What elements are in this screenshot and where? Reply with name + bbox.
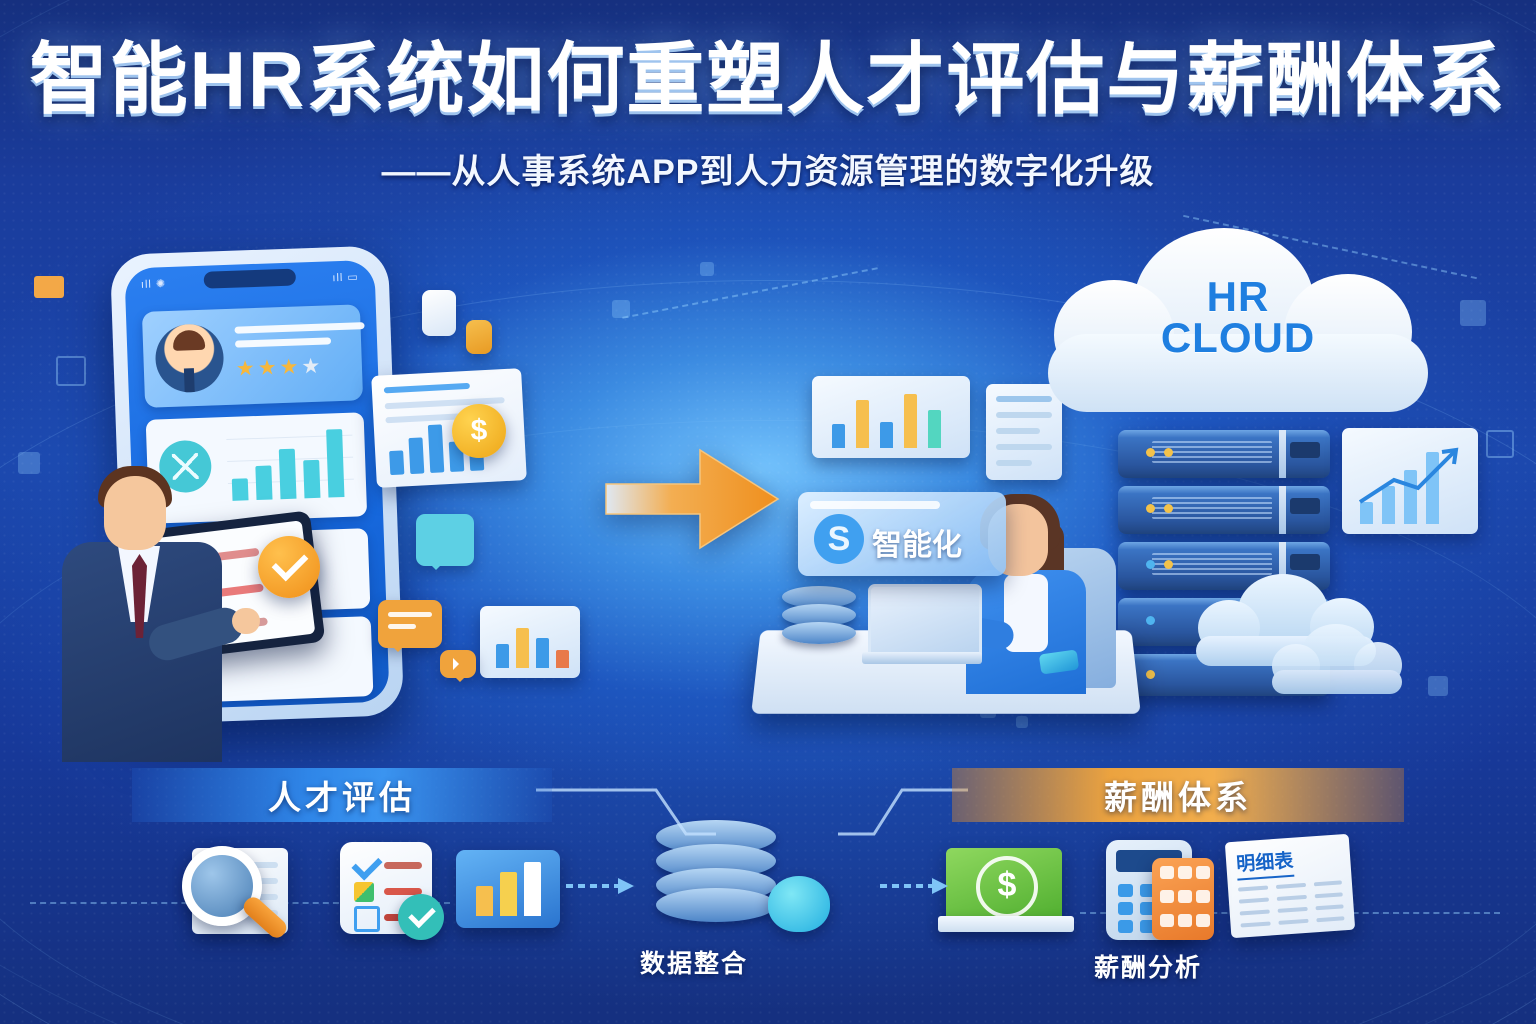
- doc-line: [996, 444, 1052, 450]
- banner-connector-left: [536, 782, 716, 840]
- doc-line: [1240, 909, 1270, 915]
- floating-chip: [466, 320, 492, 354]
- cloud-label: HR CLOUD: [1048, 276, 1428, 358]
- doc-line: [1278, 919, 1308, 925]
- rating-stars[interactable]: ★★★★: [236, 354, 324, 382]
- money-tray: [938, 916, 1074, 932]
- section-banner-talent-label: 人才评估: [268, 771, 416, 819]
- db-disc: [782, 622, 856, 644]
- server-led: [1146, 560, 1155, 569]
- status-chip-icon: [354, 882, 374, 902]
- chart-bar: [496, 644, 509, 668]
- payslip-heading: 明细表: [1235, 846, 1294, 881]
- doc-line: [1238, 886, 1268, 892]
- star-filled-3: ★: [279, 355, 302, 379]
- card-header-bar: [810, 501, 940, 509]
- server-led: [1164, 448, 1173, 457]
- server-led: [1146, 504, 1155, 513]
- calculator-key[interactable]: [1178, 890, 1192, 903]
- calculator-key[interactable]: [1196, 914, 1210, 927]
- server-led: [1146, 448, 1155, 457]
- ai-brain-icon: [768, 876, 830, 932]
- trend-arrow-icon: [1356, 444, 1466, 508]
- decor-square-outline: [56, 356, 86, 386]
- bubble-line: [388, 624, 416, 629]
- doc-line: [1240, 921, 1270, 927]
- desk-database-icon: [782, 586, 856, 648]
- orange-calculator-icon: [1152, 858, 1214, 940]
- star-filled-1: ★: [236, 357, 259, 381]
- doc-line: [996, 396, 1052, 402]
- doc-line: [1239, 898, 1269, 904]
- decor-square: [34, 276, 64, 298]
- page-subtitle: ——从人事系统APP到人力资源管理的数字化升级: [0, 144, 1536, 193]
- calculator-key[interactable]: [1196, 890, 1210, 903]
- calculator-key[interactable]: [1160, 914, 1174, 927]
- server-led: [1164, 504, 1173, 513]
- decor-square: [1460, 300, 1486, 326]
- server-led: [1164, 560, 1173, 569]
- small-cloud-graphic: [1272, 624, 1402, 694]
- cloud-label-line2: CLOUD: [1048, 317, 1428, 358]
- play-bubble-icon: [440, 650, 476, 678]
- calculator-key[interactable]: [1118, 884, 1133, 897]
- hr-cloud-graphic: HR CLOUD: [1048, 228, 1428, 418]
- checkbox-icon[interactable]: [354, 906, 380, 932]
- laptop-device[interactable]: [862, 584, 982, 670]
- page-title: 智能HR系统如何重塑人才评估与薪酬体系: [0, 40, 1536, 118]
- doc-line: [1277, 895, 1307, 901]
- calculator-key[interactable]: [1178, 914, 1192, 927]
- doc-line: [996, 412, 1052, 418]
- decor-square: [18, 452, 40, 474]
- growth-chart-card[interactable]: [1342, 428, 1478, 534]
- verified-check-icon: [398, 894, 444, 940]
- dollar-sign-icon: $: [976, 856, 1038, 918]
- phone-notch: [204, 269, 297, 289]
- calculator-key[interactable]: [1118, 920, 1133, 933]
- floating-bar-card[interactable]: [480, 606, 580, 678]
- brand-mark-icon: S: [814, 514, 864, 564]
- calculator-key[interactable]: [1160, 890, 1174, 903]
- decor-square: [1428, 676, 1448, 696]
- server-port: [1290, 498, 1320, 514]
- doc-bar: [428, 424, 444, 473]
- calculator-key[interactable]: [1178, 866, 1192, 879]
- chart-bar: [476, 886, 493, 916]
- doc-line: [1316, 916, 1344, 922]
- section-banner-salary-label: 薪酬体系: [1104, 771, 1252, 819]
- flow-arrow-right: [880, 874, 950, 898]
- doc-bar: [408, 437, 424, 474]
- chart-bar: [904, 394, 917, 448]
- chart-bar: [516, 628, 529, 668]
- payroll-money-icon: $: [946, 848, 1062, 922]
- chart-bar: [500, 872, 517, 916]
- server-led: [1146, 670, 1155, 679]
- profile-role-placeholder: [235, 337, 331, 347]
- businessman-figure: [56, 462, 228, 762]
- bubble-line: [388, 612, 432, 617]
- head: [104, 476, 166, 550]
- chart-bar: [928, 410, 941, 448]
- star-filled-2: ★: [257, 356, 280, 380]
- top-chart-card[interactable]: [812, 376, 970, 458]
- section-banner-talent[interactable]: 人才评估: [132, 768, 552, 822]
- chart-bar: [255, 465, 272, 500]
- cloud-label-line1: HR: [1048, 276, 1428, 317]
- payslip-document-icon: 明细表: [1225, 834, 1355, 938]
- doc-line: [996, 428, 1040, 434]
- laptop-screen: [868, 584, 982, 658]
- calculator-key[interactable]: [1118, 902, 1133, 915]
- cloud-base: [1272, 670, 1402, 694]
- section-banner-salary[interactable]: 薪酬体系: [952, 768, 1404, 822]
- decor-square-outline: [1486, 430, 1514, 458]
- doc-title-line: [384, 383, 470, 393]
- profile-name-placeholder: [234, 322, 364, 334]
- chat-bubble-icon: [416, 514, 474, 566]
- doc-bar: [389, 450, 404, 475]
- caption-salary-analysis: 薪酬分析: [1094, 948, 1202, 984]
- score-chart-icon: [456, 850, 560, 928]
- decor-dash-line: [622, 267, 878, 319]
- signal-icon: ıll ✺: [141, 277, 167, 291]
- transition-arrow-icon: [604, 444, 780, 554]
- server-rack-unit: [1118, 486, 1330, 534]
- laptop-keyboard: [862, 652, 982, 664]
- star-empty-4: ★: [301, 355, 324, 379]
- hand: [232, 608, 260, 634]
- infographic-canvas: 智能HR系统如何重塑人才评估与薪酬体系 ——从人事系统APP到人力资源管理的数字…: [0, 0, 1536, 1024]
- approved-check-icon: [258, 536, 320, 598]
- doc-line: [1276, 883, 1306, 889]
- server-port: [1290, 442, 1320, 458]
- doc-line: [1278, 907, 1308, 913]
- flow-arrow-left: [566, 874, 636, 898]
- chart-bar: [326, 429, 344, 498]
- avatar: [154, 323, 224, 393]
- doc-line: [996, 460, 1032, 466]
- employee-profile-card[interactable]: ★★★★: [142, 304, 363, 408]
- brand-logo-card[interactable]: S 智能化: [798, 492, 1006, 576]
- decor-square: [1016, 716, 1028, 728]
- chart-bar: [856, 400, 869, 448]
- server-port: [1290, 554, 1320, 570]
- chart-bar: [524, 862, 541, 916]
- doc-line: [1314, 880, 1342, 886]
- doc-line: [1315, 892, 1343, 898]
- checkmark-icon: [351, 849, 382, 880]
- banner-connector-right: [838, 782, 968, 840]
- decor-square: [700, 262, 714, 276]
- checklist-line: [384, 862, 422, 869]
- server-handle: [1279, 486, 1286, 534]
- chart-bar: [303, 460, 320, 499]
- calculator-key[interactable]: [1196, 866, 1210, 879]
- header-block: 智能HR系统如何重塑人才评估与薪酬体系 ——从人事系统APP到人力资源管理的数字…: [0, 40, 1536, 193]
- chart-bar: [536, 638, 549, 668]
- caption-data-integration: 数据整合: [640, 944, 748, 980]
- chart-bar: [556, 650, 569, 668]
- server-led: [1146, 616, 1155, 625]
- decor-square: [612, 300, 630, 318]
- chart-bar: [832, 424, 845, 448]
- db-disc: [656, 888, 776, 922]
- doc-line: [1315, 904, 1343, 910]
- server-handle: [1279, 430, 1286, 478]
- chart-bar: [880, 422, 893, 448]
- chart-bar: [279, 449, 297, 500]
- salary-coin-icon: $: [452, 404, 506, 458]
- server-rack-unit: [1118, 430, 1330, 478]
- calculator-key[interactable]: [1160, 866, 1174, 879]
- brand-label: 智能化: [872, 520, 962, 564]
- chart-bar: [232, 478, 249, 501]
- chat-bubble-icon: [378, 600, 442, 648]
- floating-chip: [422, 290, 456, 336]
- play-triangle-icon: [453, 658, 465, 670]
- battery-icon: ıll ▭: [332, 270, 359, 284]
